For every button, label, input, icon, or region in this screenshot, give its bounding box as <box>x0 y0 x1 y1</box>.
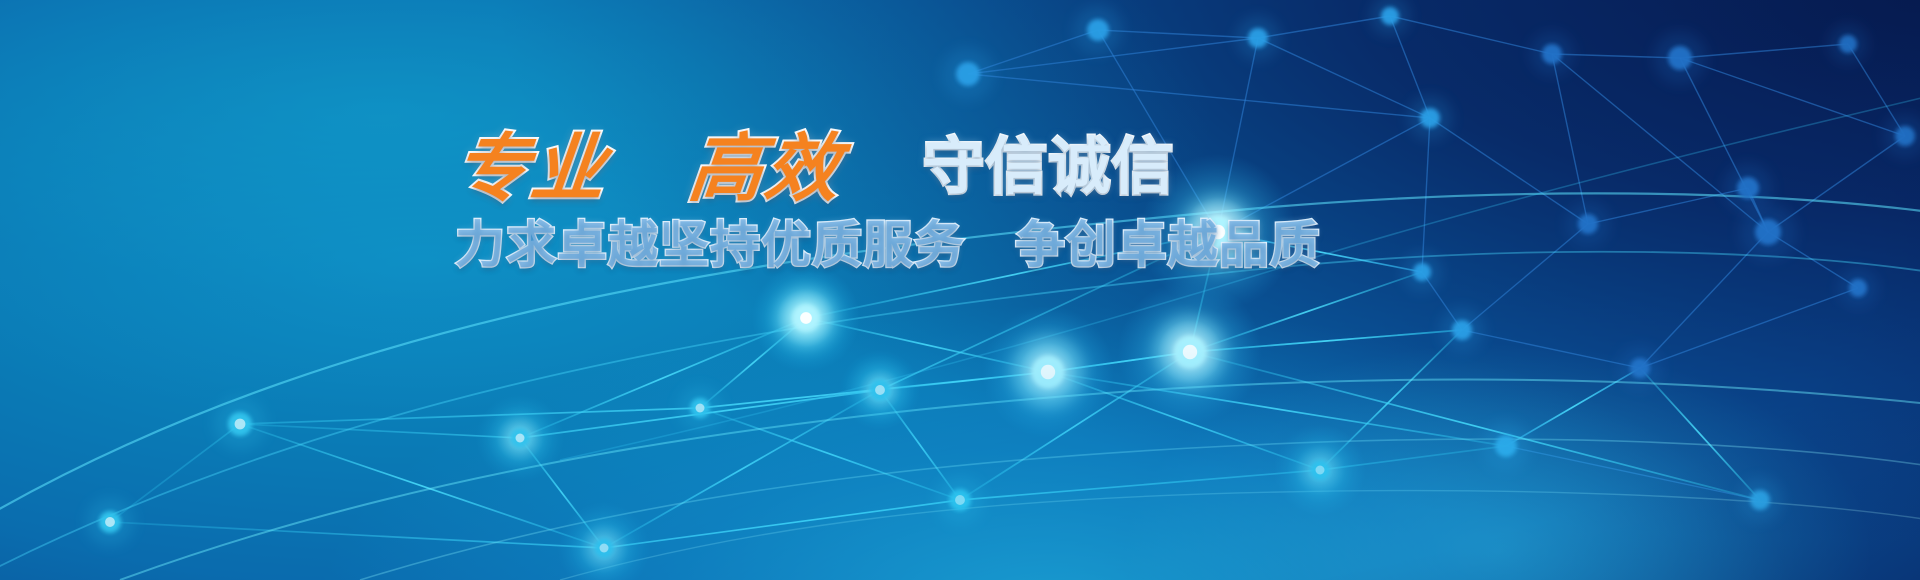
banner-text-block: 专业 高效 守信诚信 力求卓越坚持优质服务 争创卓越品质 <box>455 132 1175 270</box>
headline: 专业 高效 守信诚信 <box>455 132 1175 206</box>
subheadline-part-2: 争创卓越品质 <box>1015 217 1321 273</box>
subheadline: 力求卓越坚持优质服务 争创卓越品质 <box>455 220 1175 270</box>
headline-keyword-2: 高效 <box>685 132 845 206</box>
headline-keyword-1: 专业 <box>452 132 612 206</box>
background-vignette <box>0 0 1920 580</box>
headline-keyword-3: 守信诚信 <box>923 137 1175 199</box>
promo-banner: 专业 高效 守信诚信 力求卓越坚持优质服务 争创卓越品质 <box>0 0 1920 580</box>
subheadline-part-1: 力求卓越坚持优质服务 <box>455 217 965 273</box>
